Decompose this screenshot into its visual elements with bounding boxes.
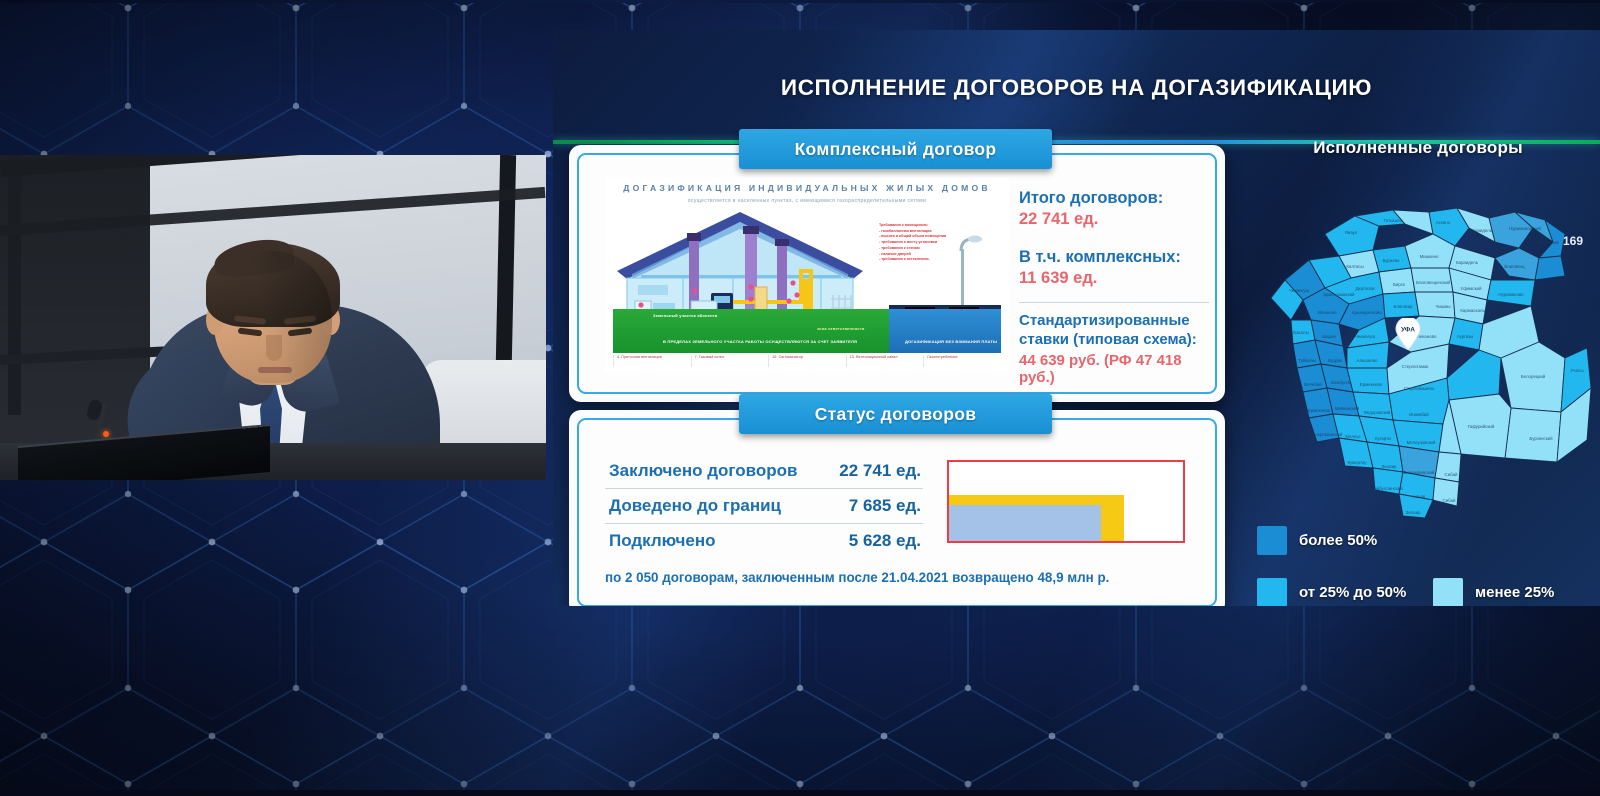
svg-text:Гафурийский: Гафурийский	[1468, 424, 1495, 429]
top-edge-strip	[0, 0, 1600, 3]
svg-text:Стерлибашево: Стерлибашево	[1404, 386, 1435, 391]
band-responsibility-label: зона ответственности	[817, 326, 865, 331]
svg-text:Стерлитамак: Стерлитамак	[1402, 364, 1429, 369]
svg-text:Татышлы: Татышлы	[1383, 218, 1402, 223]
svg-text:Мелеуз: Мелеуз	[1345, 434, 1360, 439]
svg-text:Туймазы: Туймазы	[1298, 358, 1316, 363]
row-value: 22 741 ед.	[839, 461, 921, 481]
legend-entry: 4. Приточная вентиляция	[613, 355, 691, 367]
status-table: Заключено договоров 22 741 ед. Доведено …	[605, 454, 923, 558]
slide-page-number: 169	[1563, 234, 1583, 248]
svg-text:Чекмагуш: Чекмагуш	[1355, 334, 1376, 339]
svg-text:Уфимский: Уфимский	[1461, 286, 1482, 291]
stat-rate-label: Стандартизированные ставки (типовая схем…	[1019, 312, 1209, 350]
svg-text:Куюргазинский: Куюргазинский	[1312, 432, 1343, 437]
band-free-connection	[889, 309, 1001, 353]
illustration-legend: 4. Приточная вентиляция 7. Газовый котел…	[613, 355, 1001, 367]
house-illustration: ДОГАЗИФИКАЦИЯ ИНДИВИДУАЛЬНЫХ ЖИЛЫХ ДОМОВ…	[605, 177, 1009, 371]
svg-text:Бураево: Бураево	[1383, 258, 1401, 263]
legend-entry: 7. Газовый котел	[691, 355, 769, 367]
svg-text:Калтасы: Калтасы	[1346, 264, 1363, 269]
speaker-face-shading	[214, 251, 332, 383]
svg-text:Хайбуллинский: Хайбуллинский	[1371, 486, 1403, 491]
svg-text:Белебей: Белебей	[1304, 382, 1322, 387]
svg-text:Сибай: Сибай	[1445, 472, 1458, 477]
panel-complex-contract: ДОГАЗИФИКАЦИЯ ИНДИВИДУАЛЬНЫХ ЖИЛЫХ ДОМОВ…	[569, 145, 1225, 402]
bar-connected	[949, 505, 1101, 541]
svg-text:Бакалы: Бакалы	[1293, 330, 1309, 335]
house-diagram-stage: Земельный участок абонента В ПРЕДЕЛАХ ЗЕ…	[605, 209, 1009, 359]
capital-pin-ufa: УФА	[1395, 318, 1421, 350]
legend-label-high: более 50%	[1299, 532, 1377, 549]
band-plot-label: Земельный участок абонента	[653, 313, 717, 318]
stat-complex-value: 11 639 ед.	[1019, 269, 1209, 288]
table-row: Доведено до границ 7 685 ед.	[605, 489, 923, 524]
svg-text:Аургазы: Аургазы	[1457, 334, 1474, 339]
presentation-slide: ИСПОЛНЕНИЕ ДОГОВОРОВ НА ДОГАЗИФИКАЦИЮ Ко…	[553, 30, 1600, 606]
svg-text:Учалы: Учалы	[1570, 368, 1583, 373]
legend-swatch-high	[1257, 526, 1287, 555]
svg-text:Сибай: Сибай	[1443, 498, 1456, 503]
svg-text:Бижбуляк: Бижбуляк	[1331, 380, 1351, 385]
svg-text:Ишимбай: Ишимбай	[1409, 412, 1429, 417]
slide-title: ИСПОЛНЕНИЕ ДОГОВОРОВ НА ДОГАЗИФИКАЦИЮ	[553, 75, 1600, 101]
svg-text:Чекмагуш: Чекмагуш	[1289, 288, 1310, 293]
svg-text:Благовещенский: Благовещенский	[1416, 280, 1451, 285]
legend-item-low: менее 25%	[1433, 578, 1554, 606]
contract-stats: Итого договоров: 22 741 ед. В т.ч. компл…	[1019, 189, 1209, 386]
panel-contract-status-inner: Заключено договоров 22 741 ед. Доведено …	[577, 418, 1217, 606]
map-section: Исполненные договоры .d { stroke:#15304f…	[1243, 138, 1593, 606]
svg-text:Кумертау: Кумертау	[1347, 460, 1367, 465]
microphone-led-indicator	[103, 431, 109, 437]
video-feed	[0, 155, 546, 480]
svg-text:Федоровский: Федоровский	[1364, 410, 1391, 415]
stat-total-value: 22 741 ед.	[1019, 210, 1209, 229]
table-row: Заключено договоров 22 741 ед.	[605, 454, 923, 489]
illustration-title: ДОГАЗИФИКАЦИЯ ИНДИВИДУАЛЬНЫХ ЖИЛЫХ ДОМОВ	[605, 183, 1009, 193]
legend-entry: 10. Сигнализатор	[768, 355, 846, 367]
svg-text:Чишмы: Чишмы	[1435, 304, 1450, 309]
stat-total-label: Итого договоров:	[1019, 189, 1209, 208]
svg-text:Кушнаренково: Кушнаренково	[1352, 310, 1382, 315]
svg-text:Ермекеево: Ермекеево	[1360, 382, 1383, 387]
svg-text:Благовар: Благовар	[1394, 304, 1414, 309]
status-note: по 2 050 договорам, заключенным после 21…	[605, 570, 1205, 585]
svg-text:Акъяр: Акъяр	[1413, 494, 1426, 499]
requirement-item: - требования к остеклению.	[879, 257, 967, 263]
svg-text:Миякинский: Миякинский	[1335, 406, 1360, 411]
legend-item-high: более 50%	[1257, 526, 1377, 555]
svg-text:Буздяк: Буздяк	[1328, 358, 1342, 363]
svg-text:Мишкино: Мишкино	[1420, 254, 1439, 259]
legend-entry: Газопотребление	[923, 355, 1001, 367]
row-label: Подключено	[609, 531, 716, 551]
svg-text:Белорецкий: Белорецкий	[1521, 374, 1546, 379]
legend-label-mid: от 25% до 50%	[1299, 584, 1406, 601]
svg-text:Нуриманово: Нуриманово	[1498, 292, 1524, 297]
row-label: Доведено до границ	[609, 496, 781, 516]
map-title: Исполненные договоры	[1243, 138, 1593, 158]
svg-text:Зилаир: Зилаир	[1405, 510, 1421, 515]
legend-entry: 13. Вентиляционный канал	[846, 355, 924, 367]
svg-text:Ермекеево: Ермекеево	[1308, 408, 1331, 413]
row-value: 5 628 ед.	[849, 531, 921, 551]
illustration-subtitle: осуществляется в населенных пунктах, с и…	[605, 198, 1009, 204]
bottom-edge-strip	[0, 790, 1600, 796]
svg-text:Зилаир: Зилаир	[1381, 464, 1397, 469]
legend-item-mid: от 25% до 50%	[1257, 578, 1406, 606]
svg-text:Кармаскалы: Кармаскалы	[1460, 308, 1485, 313]
tab-contract-status[interactable]: Статус договоров	[739, 394, 1052, 434]
panel-contract-status: Заключено договоров 22 741 ед. Доведено …	[569, 410, 1225, 606]
svg-text:Караидель: Караидель	[1470, 228, 1493, 233]
svg-text:Благовещ.: Благовещ.	[1504, 264, 1525, 269]
svg-text:Иглинский: Иглинский	[1537, 240, 1559, 245]
svg-text:Бурзянский: Бурзянский	[1529, 436, 1553, 441]
feed-frame-post-left	[8, 155, 21, 415]
svg-text:Илишево: Илишево	[1318, 310, 1337, 315]
stat-divider: Стандартизированные ставки (типовая схем…	[1019, 302, 1209, 386]
svg-text:Краснокамский: Краснокамский	[1323, 292, 1355, 297]
broadcast-screen: ИСПОЛНЕНИЕ ДОГОВОРОВ НА ДОГАЗИФИКАЦИЮ Ко…	[0, 0, 1600, 796]
svg-text:Янаул: Янаул	[1345, 230, 1358, 235]
svg-text:Кугарчи: Кугарчи	[1375, 436, 1391, 441]
svg-text:Дюртюли: Дюртюли	[1356, 286, 1375, 291]
nested-bar-chart	[947, 460, 1185, 543]
capital-pin-label: УФА	[1401, 327, 1415, 334]
svg-text:Бирск: Бирск	[1393, 282, 1405, 287]
legend-swatch-mid	[1257, 578, 1287, 606]
svg-text:Караидель: Караидель	[1456, 260, 1479, 265]
legend-swatch-low	[1433, 578, 1463, 606]
stat-complex-label: В т.ч. комплексных:	[1019, 248, 1209, 267]
band-plot-lower-label: В ПРЕДЕЛАХ ЗЕМЕЛЬНОГО УЧАСТКА РАБОТЫ ОСУ…	[663, 339, 857, 344]
requirements-callout: Требования к помещению: - газобаллонная …	[879, 223, 967, 263]
svg-text:Шаран: Шаран	[1322, 334, 1336, 339]
table-row: Подключено 5 628 ед.	[605, 524, 923, 558]
svg-text:Нуримановский: Нуримановский	[1509, 226, 1541, 231]
row-label: Заключено договоров	[609, 461, 797, 481]
panel-complex-contract-inner: ДОГАЗИФИКАЦИЯ ИНДИВИДУАЛЬНЫХ ЖИЛЫХ ДОМОВ…	[577, 153, 1217, 394]
svg-text:Альшеево: Альшеево	[1357, 358, 1378, 363]
legend-label-low: менее 25%	[1475, 584, 1554, 601]
stat-rate-value: 44 639 руб. (РФ 47 418 руб.)	[1019, 352, 1209, 386]
region-map: .d { stroke:#15304f; stroke-width:.9; } …	[1243, 172, 1593, 522]
band-free-label: ДОГАЗИФИКАЦИЯ БЕЗ ВЗИМАНИЯ ПЛАТЫ	[905, 339, 997, 344]
svg-text:Мелеузовский: Мелеузовский	[1407, 440, 1436, 445]
svg-text:Зианчуринский: Зианчуринский	[1404, 470, 1435, 475]
tab-complex-contract[interactable]: Комплексный договор	[739, 129, 1052, 169]
row-value: 7 685 ед.	[849, 496, 921, 516]
svg-text:Аскино: Аскино	[1436, 220, 1451, 225]
